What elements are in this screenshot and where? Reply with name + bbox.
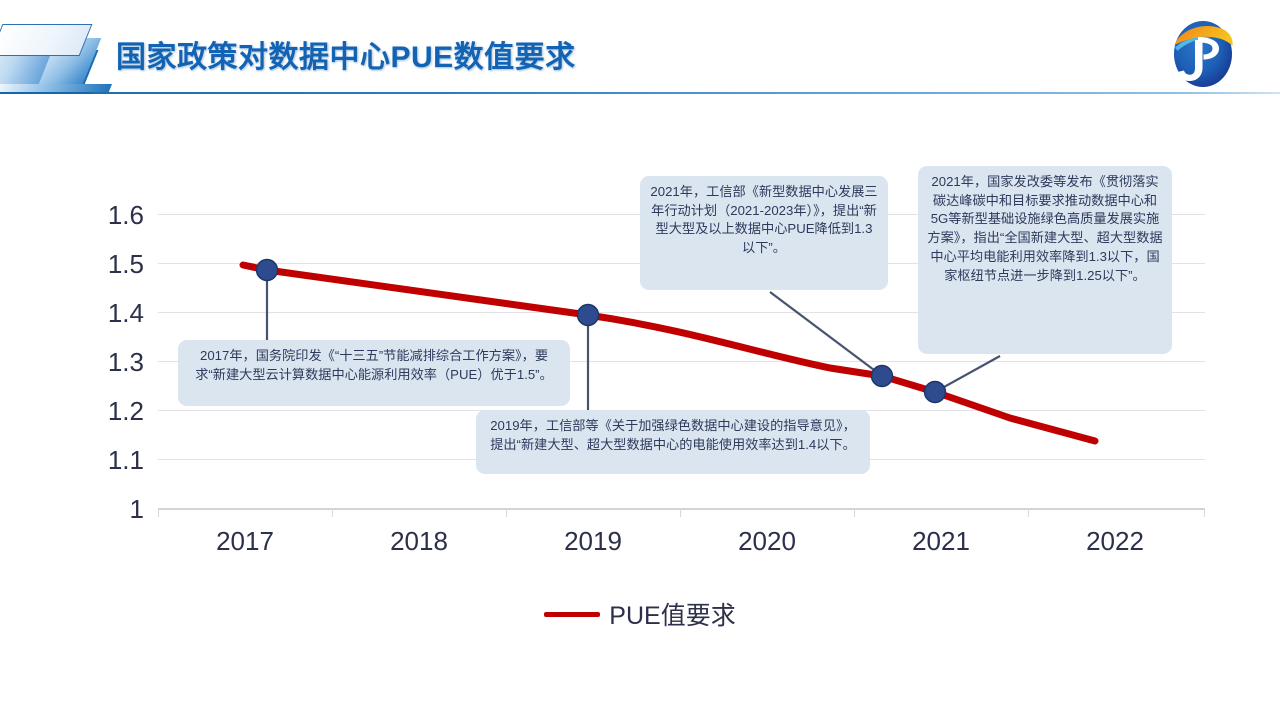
chart-container: 1.6 1.5 1.4 1.3 1.2 1.1 1 2017 2018 2019… <box>0 96 1280 720</box>
annotation-2019: 2019年，工信部等《关于加强绿色数据中心建设的指导意见》，提出“新建大型、超大… <box>476 410 870 474</box>
page-title: 国家政策对数据中心PUE数值要求 <box>116 32 576 76</box>
leader-line-2021-miit <box>770 292 882 376</box>
annotation-2017: 2017年，国务院印发《“十三五”节能减排综合工作方案》，要求“新建大型云计算数… <box>178 340 570 406</box>
company-logo-icon <box>1162 18 1244 90</box>
header-rule <box>92 92 1280 94</box>
data-point-marker <box>257 260 278 281</box>
chart-legend: PUE值要求 <box>0 596 1280 632</box>
legend-label-pue: PUE值要求 <box>609 596 735 632</box>
data-point-marker <box>578 305 599 326</box>
header-rule-left <box>0 92 94 94</box>
header-decoration-outline <box>0 24 92 56</box>
data-point-marker <box>925 382 946 403</box>
annotation-2021-ndrc: 2021年，国家发改委等发布《贯彻落实碳达峰碳中和目标要求推动数据中心和5G等新… <box>918 166 1172 354</box>
legend-entry: PUE值要求 <box>544 596 735 632</box>
annotation-2021-miit: 2021年，工信部《新型数据中心发展三年行动计划（2021-2023年）》，提出… <box>640 176 888 290</box>
data-point-marker <box>872 366 893 387</box>
legend-swatch-pue <box>544 612 600 617</box>
page-header: 国家政策对数据中心PUE数值要求 <box>0 0 1280 96</box>
